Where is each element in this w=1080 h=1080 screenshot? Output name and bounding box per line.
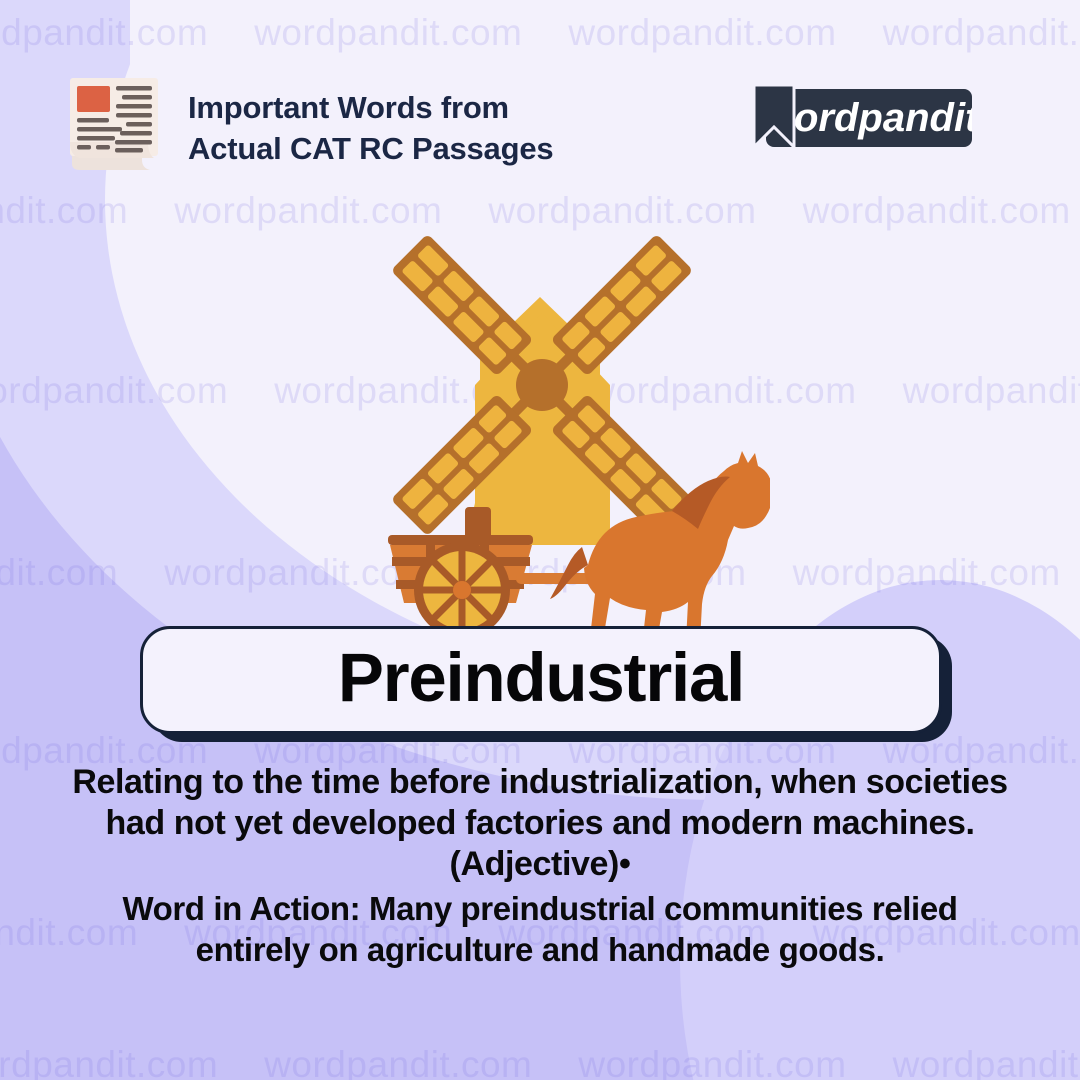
definition-block: Relating to the time before industrializ…	[20, 762, 1060, 884]
logo-text: ordpandit	[794, 96, 972, 140]
part-of-speech: (Adjective)•	[20, 844, 1060, 885]
page-title: Important Words from Actual CAT RC Passa…	[188, 88, 608, 170]
word-card-poster: wordpandit.comwordpandit.comwordpandit.c…	[0, 0, 1080, 1080]
windmill-horse-cart-illustration	[320, 235, 770, 635]
word-in-action-block: Word in Action: Many preindustrial commu…	[40, 888, 1040, 971]
page-title-line1: Important Words from	[188, 88, 608, 129]
windmill-hub	[516, 359, 568, 411]
definition-line2: had not yet developed factories and mode…	[20, 803, 1060, 844]
wordpandit-logo[interactable]: ordpandit	[748, 83, 972, 153]
word-card-body: Preindustrial	[140, 626, 942, 734]
page-title-line2: Actual CAT RC Passages	[188, 129, 608, 170]
word-in-action-line2: entirely on agriculture and handmade goo…	[40, 929, 1040, 970]
word-in-action-line1: Word in Action: Many preindustrial commu…	[40, 888, 1040, 929]
definition-line1: Relating to the time before industrializ…	[20, 762, 1060, 803]
cart-wheel	[414, 542, 510, 635]
word-card: Preindustrial	[140, 626, 940, 736]
word-term: Preindustrial	[338, 643, 744, 718]
newspaper-icon	[58, 72, 170, 172]
poster-header: Important Words from Actual CAT RC Passa…	[0, 0, 1080, 190]
